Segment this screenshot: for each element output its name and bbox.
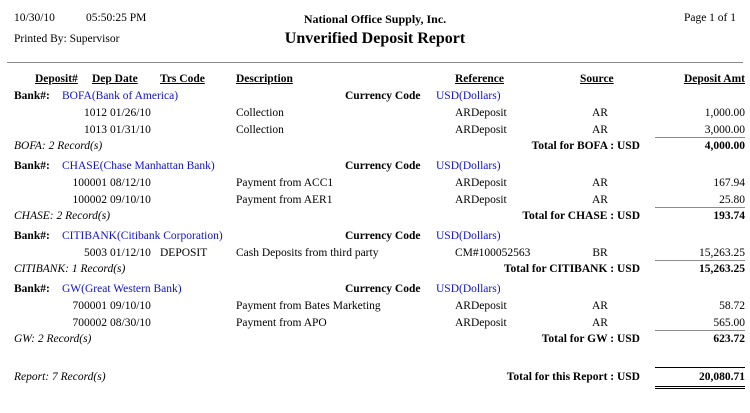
description-cell: Collection [236, 123, 284, 138]
deposit-row[interactable]: 10000108/12/10Payment from ACC1ARDeposit… [0, 176, 750, 193]
dep-date-cell: 09/10/10 [110, 193, 151, 208]
dep-date-cell: 08/12/10 [110, 176, 151, 191]
currency-code-label: Currency Code [345, 89, 421, 104]
currency-code-value: USD(Dollars) [436, 89, 501, 104]
reference-cell: ARDeposit [455, 193, 507, 208]
report-title: Unverified Deposit Report [0, 30, 750, 48]
currency-code-label: Currency Code [345, 282, 421, 297]
currency-code-label: Currency Code [345, 159, 421, 174]
currency-code-value: USD(Dollars) [436, 159, 501, 174]
header-line-bottom: Printed By: Supervisor Unverified Deposi… [0, 33, 750, 51]
reference-cell: ARDeposit [455, 106, 507, 121]
amount-cell: 25.80 [620, 193, 745, 208]
subtotal-rule [655, 260, 745, 261]
bank-group-header: Bank#:CHASE(Chase Manhattan Bank)Currenc… [0, 159, 750, 176]
bank-subtotal-row: GW: 2 Record(s)Total for GW : USD623.72 [0, 333, 750, 352]
report-record-count: Report: 7 Record(s) [14, 371, 106, 383]
description-cell: Cash Deposits from third party [236, 246, 378, 261]
reference-cell: ARDeposit [455, 123, 507, 138]
amount-cell: 167.94 [620, 176, 745, 191]
dep-date-cell: 08/30/10 [110, 316, 151, 331]
bank-code-name: GW(Great Western Bank) [62, 282, 182, 297]
currency-code-value: USD(Dollars) [436, 229, 501, 244]
bank-total-amount: 4,000.00 [620, 140, 745, 152]
deposit-row[interactable]: 10000209/10/10Payment from AER1ARDeposit… [0, 193, 750, 210]
column-header-trs-code: Trs Code [160, 72, 205, 87]
currency-code-label: Currency Code [345, 229, 421, 244]
bank-total-label: Total for CITIBANK : USD [470, 263, 640, 275]
description-cell: Payment from ACC1 [236, 176, 333, 191]
report-total-row: Report: 7 Record(s)Total for this Report… [0, 371, 750, 390]
bank-total-label: Total for CHASE : USD [470, 210, 640, 222]
header-line-top: 10/30/10 05:50:25 PM National Office Sup… [0, 12, 750, 30]
deposit-row[interactable]: 101201/26/10CollectionARDepositAR1,000.0… [0, 106, 750, 123]
subtotal-rule [655, 137, 745, 138]
deposit-no-cell: 1012 [35, 106, 107, 121]
report-total-rule-bottom [655, 386, 745, 389]
amount-cell: 58.72 [620, 299, 745, 314]
bank-total-amount: 15,263.25 [620, 263, 745, 275]
bank-subtotal-row: CHASE: 2 Record(s)Total for CHASE : USD1… [0, 210, 750, 229]
deposit-no-cell: 100001 [35, 176, 107, 191]
description-cell: Payment from Bates Marketing [236, 299, 381, 314]
report-total-amount: 20,080.71 [620, 371, 745, 383]
deposit-row[interactable]: 101301/31/10CollectionARDepositAR3,000.0… [0, 123, 750, 140]
dep-date-cell: 09/10/10 [110, 299, 151, 314]
reference-cell: ARDeposit [455, 299, 507, 314]
deposit-no-cell: 100002 [35, 193, 107, 208]
bank-code-name: CHASE(Chase Manhattan Bank) [62, 159, 215, 174]
bank-group-header: Bank#:GW(Great Western Bank)Currency Cod… [0, 282, 750, 299]
deposit-row[interactable]: 70000208/30/10Payment from APOARDepositA… [0, 316, 750, 333]
description-cell: Payment from AER1 [236, 193, 332, 208]
page-number: Page 1 of 1 [684, 12, 736, 24]
report-header: 10/30/10 05:50:25 PM National Office Sup… [0, 0, 750, 62]
bank-total-label: Total for BOFA : USD [470, 140, 640, 152]
dep-date-cell: 01/12/10 [110, 246, 151, 261]
bank-subtotal-row: BOFA: 2 Record(s)Total for BOFA : USD4,0… [0, 140, 750, 159]
trs-code-cell: DEPOSIT [160, 246, 207, 261]
bank-group-header: Bank#:BOFA(Bank of America)Currency Code… [0, 89, 750, 106]
column-header-dep-date: Dep Date [92, 72, 138, 87]
column-header-reference: Reference [455, 72, 504, 87]
column-header-row: Deposit# Dep Date Trs Code Description R… [0, 72, 750, 89]
report-total-label: Total for this Report : USD [470, 371, 640, 383]
amount-cell: 1,000.00 [620, 106, 745, 121]
grand-total-spacer [0, 352, 750, 371]
deposit-row[interactable]: 500301/12/10DEPOSITCash Deposits from th… [0, 246, 750, 263]
amount-cell: 3,000.00 [620, 123, 745, 138]
deposit-no-cell: 5003 [35, 246, 107, 261]
deposit-no-cell: 700001 [35, 299, 107, 314]
bank-no-label: Bank#: [14, 282, 50, 297]
bank-total-amount: 193.74 [620, 210, 745, 222]
dep-date-cell: 01/26/10 [110, 106, 151, 121]
report-page: 10/30/10 05:50:25 PM National Office Sup… [0, 0, 750, 413]
dep-date-cell: 01/31/10 [110, 123, 151, 138]
description-cell: Collection [236, 106, 284, 121]
bank-subtotal-row: CITIBANK: 1 Record(s)Total for CITIBANK … [0, 263, 750, 282]
report-grid: Deposit# Dep Date Trs Code Description R… [0, 72, 750, 390]
currency-code-value: USD(Dollars) [436, 282, 501, 297]
company-name: National Office Supply, Inc. [0, 12, 750, 27]
bank-code-name: CITIBANK(Citibank Corporation) [62, 229, 223, 244]
reference-cell: ARDeposit [455, 316, 507, 331]
bank-no-label: Bank#: [14, 159, 50, 174]
bank-record-count: CITIBANK: 1 Record(s) [14, 263, 125, 275]
reference-cell: ARDeposit [455, 176, 507, 191]
deposit-row[interactable]: 70000109/10/10Payment from Bates Marketi… [0, 299, 750, 316]
description-cell: Payment from APO [236, 316, 327, 331]
subtotal-rule [655, 207, 745, 208]
bank-no-label: Bank#: [14, 229, 50, 244]
deposit-no-cell: 1013 [35, 123, 107, 138]
column-header-description: Description [236, 72, 293, 87]
bank-record-count: CHASE: 2 Record(s) [14, 210, 110, 222]
amount-cell: 565.00 [620, 316, 745, 331]
reference-cell: CM#100052563 [455, 246, 530, 261]
bank-record-count: BOFA: 2 Record(s) [14, 140, 102, 152]
deposit-no-cell: 700002 [35, 316, 107, 331]
header-divider [7, 62, 743, 63]
bank-code-name: BOFA(Bank of America) [62, 89, 178, 104]
bank-no-label: Bank#: [14, 89, 50, 104]
column-header-deposit-amt: Deposit Amt [620, 72, 745, 87]
bank-total-label: Total for GW : USD [470, 333, 640, 345]
bank-total-amount: 623.72 [620, 333, 745, 345]
bank-record-count: GW: 2 Record(s) [14, 333, 91, 345]
amount-cell: 15,263.25 [620, 246, 745, 261]
subtotal-rule [655, 330, 745, 331]
bank-group-header: Bank#:CITIBANK(Citibank Corporation)Curr… [0, 229, 750, 246]
report-total-rule-top [655, 367, 745, 368]
